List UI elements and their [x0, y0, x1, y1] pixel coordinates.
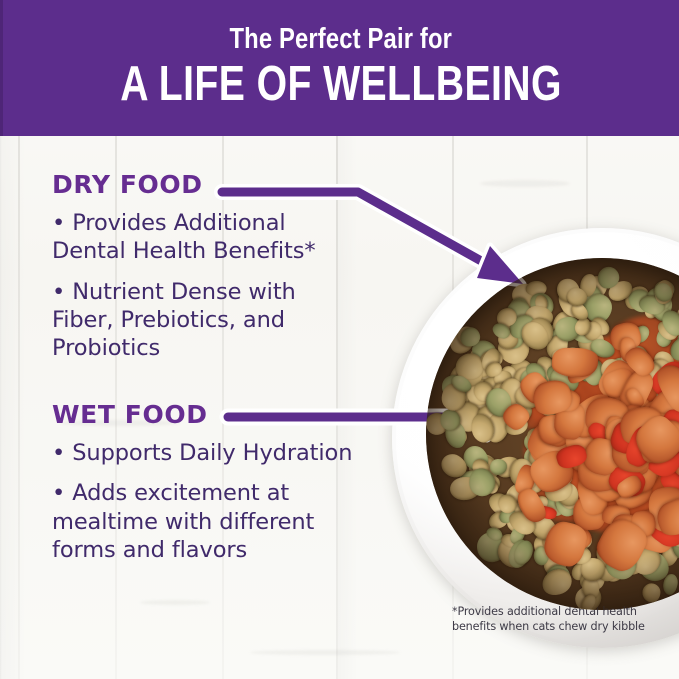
wood-grain: [480, 180, 570, 187]
dry-food-heading: DRY FOOD: [52, 172, 362, 197]
dry-food-bullet-list: • Provides Additional Dental Health Bene…: [52, 209, 362, 363]
wet-food-section: WET FOOD • Supports Daily Hydration • Ad…: [52, 402, 362, 576]
list-item: • Nutrient Dense with Fiber, Prebiotics,…: [52, 278, 362, 363]
footnote-disclaimer: *Provides additional dental health benef…: [452, 605, 670, 635]
infographic-page: The Perfect Pair for A LIFE OF WELLBEING…: [0, 0, 679, 679]
wet-food-heading: WET FOOD: [52, 402, 362, 427]
wet-food-bullet-list: • Supports Daily Hydration • Adds excite…: [52, 439, 362, 564]
list-item: • Adds excitement at mealtime with diffe…: [52, 479, 362, 564]
dry-food-section: DRY FOOD • Provides Additional Dental He…: [52, 172, 362, 375]
wood-grain: [250, 650, 400, 655]
header-banner: The Perfect Pair for A LIFE OF WELLBEING: [0, 0, 679, 136]
header-subtitle: The Perfect Pair for: [230, 25, 453, 54]
header-title: A LIFE OF WELLBEING: [120, 59, 562, 110]
list-item: • Provides Additional Dental Health Bene…: [52, 209, 362, 266]
wood-grain: [140, 600, 210, 605]
list-item: • Supports Daily Hydration: [52, 439, 362, 467]
